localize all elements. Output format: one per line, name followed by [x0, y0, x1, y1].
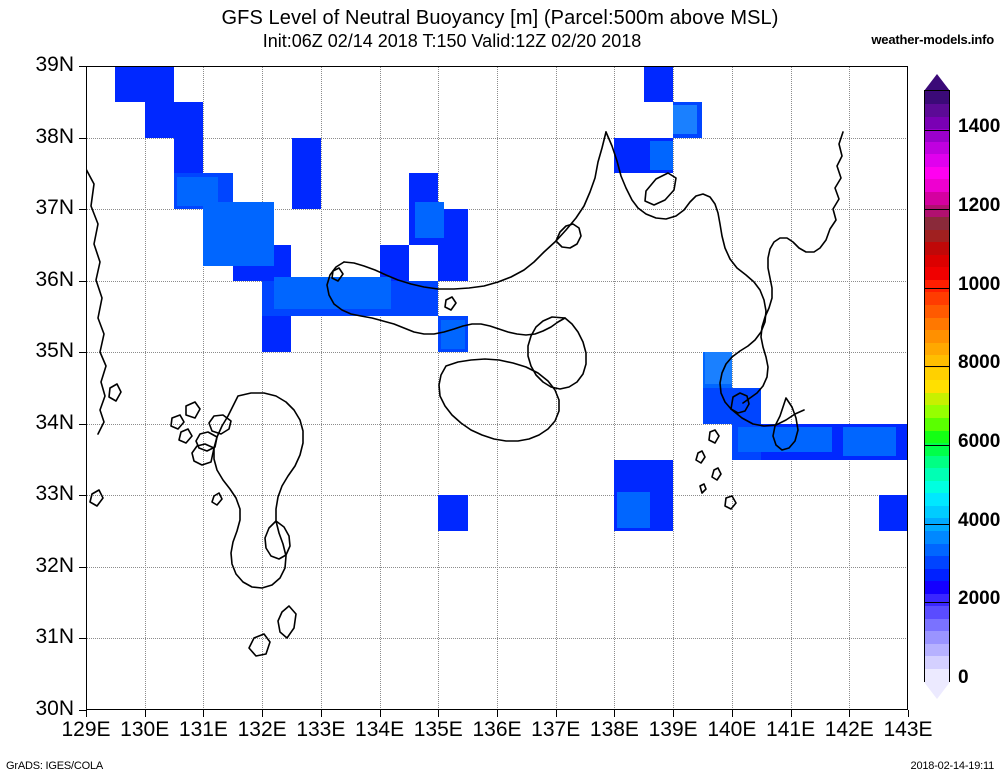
x-axis-tick: [497, 710, 498, 717]
colorbar-band: [925, 367, 949, 380]
colorbar-band: [925, 91, 949, 104]
colorbar-band: [925, 668, 949, 681]
colorbar-band: [925, 342, 949, 355]
colorbar[interactable]: 02000400060008000100001200014000: [924, 74, 950, 698]
colorbar-band: [925, 304, 949, 317]
colorbar-band: [925, 555, 949, 568]
y-axis-tick: [79, 638, 86, 639]
colorbar-tick-label: 4000: [958, 510, 1000, 532]
colorbar-band: [925, 417, 949, 430]
colorbar-band: [925, 568, 949, 581]
colorbar-divider: [925, 445, 949, 446]
colorbar-band: [925, 581, 949, 594]
y-axis-tick: [79, 710, 86, 711]
colorbar-band: [925, 292, 949, 305]
colorbar-band: [925, 217, 949, 230]
colorbar-band: [925, 166, 949, 179]
y-axis-tick: [79, 209, 86, 210]
coastline-overlay: [86, 66, 908, 710]
y-axis-label: 30N: [0, 697, 74, 721]
colorbar-divider: [925, 366, 949, 367]
colorbar-tick-label: 6000: [958, 431, 1000, 453]
colorbar-band: [925, 179, 949, 192]
colorbar-band: [925, 656, 949, 669]
colorbar-band: [925, 229, 949, 242]
y-axis-tick: [79, 281, 86, 282]
map-plot-area[interactable]: [86, 66, 908, 710]
colorbar-bottom-arrow: [924, 682, 950, 699]
chart-subtitle: Init:06Z 02/14 2018 T:150 Valid:12Z 02/2…: [0, 30, 952, 52]
colorbar-band: [925, 480, 949, 493]
y-axis-tick: [79, 66, 86, 67]
colorbar-tick-label: 0: [958, 667, 969, 689]
colorbar-band: [925, 279, 949, 292]
x-axis-tick: [849, 710, 850, 717]
y-axis-tick: [79, 352, 86, 353]
colorbar-band: [925, 430, 949, 443]
y-axis-label: 34N: [0, 411, 74, 435]
x-axis-label: 143E: [863, 718, 953, 742]
x-axis-tick: [145, 710, 146, 717]
footer-timestamp: 2018-02-14-19:11: [911, 760, 994, 772]
colorbar-band: [925, 593, 949, 606]
x-axis-tick: [86, 710, 87, 717]
colorbar-band: [925, 191, 949, 204]
colorbar-band: [925, 330, 949, 343]
colorbar-band: [925, 116, 949, 129]
y-axis-label: 33N: [0, 482, 74, 506]
title-block: GFS Level of Neutral Buoyancy [m] (Parce…: [0, 6, 1000, 52]
y-axis-label: 31N: [0, 625, 74, 649]
colorbar-band: [925, 104, 949, 117]
colorbar-tick-label: 2000: [958, 588, 1000, 610]
colorbar-band: [925, 493, 949, 506]
colorbar-tick-label: 14000: [958, 116, 1000, 138]
colorbar-top-arrow: [924, 74, 950, 91]
colorbar-band: [925, 204, 949, 217]
x-axis-tick: [203, 710, 204, 717]
x-axis-tick: [673, 710, 674, 717]
y-axis-tick: [79, 495, 86, 496]
x-axis-tick: [438, 710, 439, 717]
footer-credit: GrADS: IGES/COLA: [6, 760, 103, 772]
brand-label: weather-models.info: [871, 32, 994, 47]
colorbar-band: [925, 530, 949, 543]
colorbar-band: [925, 618, 949, 631]
colorbar-tick-label: 12000: [958, 195, 1000, 217]
colorbar-divider: [925, 602, 949, 603]
colorbar-band: [925, 392, 949, 405]
colorbar-band: [925, 267, 949, 280]
colorbar-band: [925, 606, 949, 619]
colorbar-band: [925, 455, 949, 468]
y-axis-label: 36N: [0, 268, 74, 292]
colorbar-tick-label: 10000: [958, 274, 1000, 296]
colorbar-divider: [925, 130, 949, 131]
colorbar-band: [925, 141, 949, 154]
colorbar-band: [925, 254, 949, 267]
x-axis-tick: [908, 710, 909, 717]
colorbar-divider: [925, 288, 949, 289]
x-axis-tick: [732, 710, 733, 717]
y-axis-label: 37N: [0, 196, 74, 220]
colorbar-band: [925, 505, 949, 518]
colorbar-body[interactable]: [924, 90, 950, 682]
colorbar-band: [925, 643, 949, 656]
page-title: GFS Level of Neutral Buoyancy [m] (Parce…: [0, 6, 1000, 30]
y-axis-tick: [79, 567, 86, 568]
colorbar-tick-label: 8000: [958, 352, 1000, 374]
colorbar-band: [925, 242, 949, 255]
colorbar-band: [925, 405, 949, 418]
x-axis-tick: [791, 710, 792, 717]
colorbar-band: [925, 380, 949, 393]
y-axis-label: 38N: [0, 125, 74, 149]
x-axis-tick: [556, 710, 557, 717]
colorbar-band: [925, 631, 949, 644]
x-axis-tick: [614, 710, 615, 717]
colorbar-divider: [925, 524, 949, 525]
y-axis-label: 32N: [0, 554, 74, 578]
colorbar-band: [925, 154, 949, 167]
colorbar-band: [925, 317, 949, 330]
x-axis-tick: [321, 710, 322, 717]
y-axis-label: 39N: [0, 53, 74, 77]
colorbar-band: [925, 468, 949, 481]
y-axis-label: 35N: [0, 339, 74, 363]
y-axis-tick: [79, 138, 86, 139]
y-axis-tick: [79, 424, 86, 425]
colorbar-divider: [925, 209, 949, 210]
x-axis-tick: [380, 710, 381, 717]
x-axis-tick: [262, 710, 263, 717]
colorbar-band: [925, 543, 949, 556]
